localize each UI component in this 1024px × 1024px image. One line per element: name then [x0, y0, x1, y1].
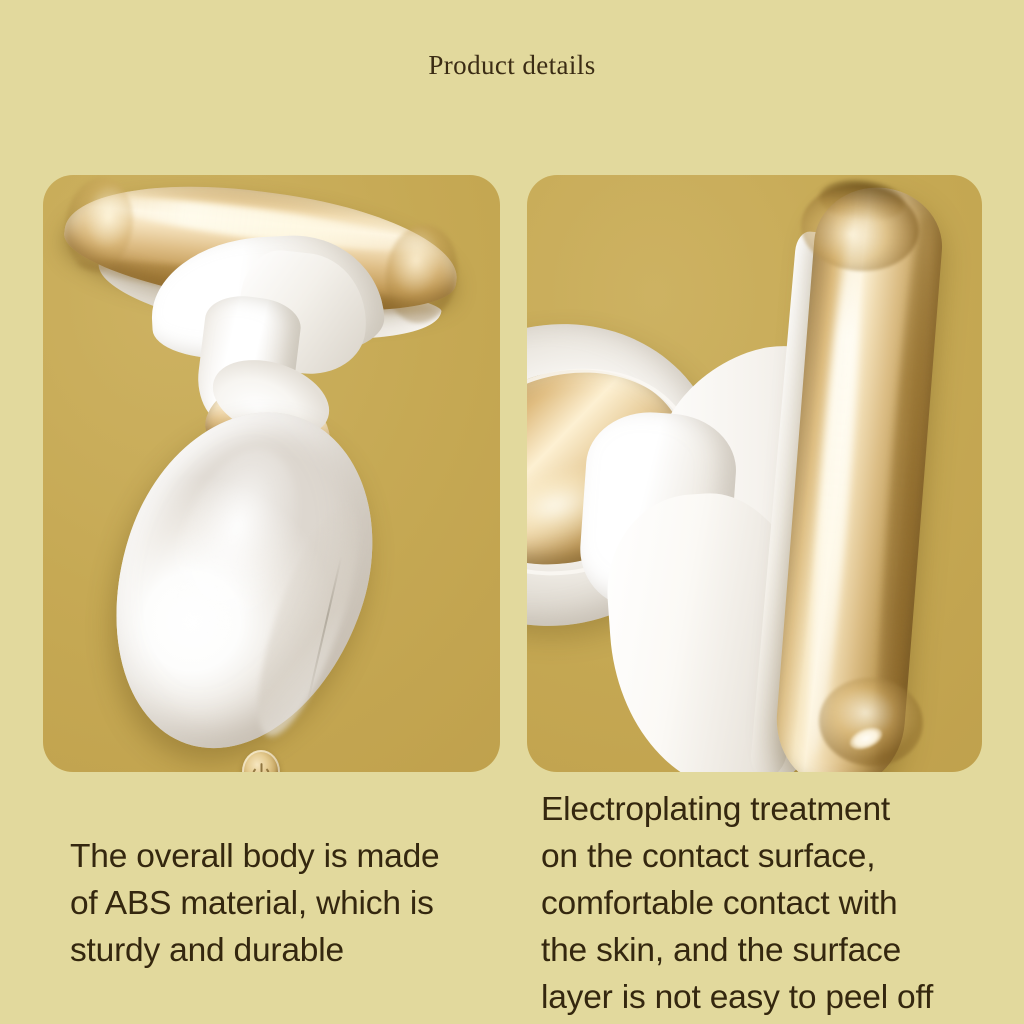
- product-details-page: Product details: [0, 0, 1024, 1024]
- power-button: [242, 750, 280, 772]
- page-title: Product details: [0, 50, 1024, 81]
- product-photo-front-view: [43, 175, 500, 772]
- power-icon: [253, 763, 270, 772]
- caption-right: Electroplating treatment on the contact …: [541, 786, 1001, 1021]
- contact-bar-highlight: [799, 215, 870, 757]
- product-image-panel-left: [43, 175, 500, 772]
- caption-left: The overall body is made of ABS material…: [70, 833, 520, 974]
- device-illustration-front: [43, 175, 500, 772]
- power-icon-bar: [260, 763, 262, 772]
- device-handle-body: [71, 378, 413, 772]
- product-image-panel-right: [527, 175, 982, 772]
- product-photo-contact-surface: [527, 175, 982, 772]
- device-illustration-closeup: [527, 175, 982, 772]
